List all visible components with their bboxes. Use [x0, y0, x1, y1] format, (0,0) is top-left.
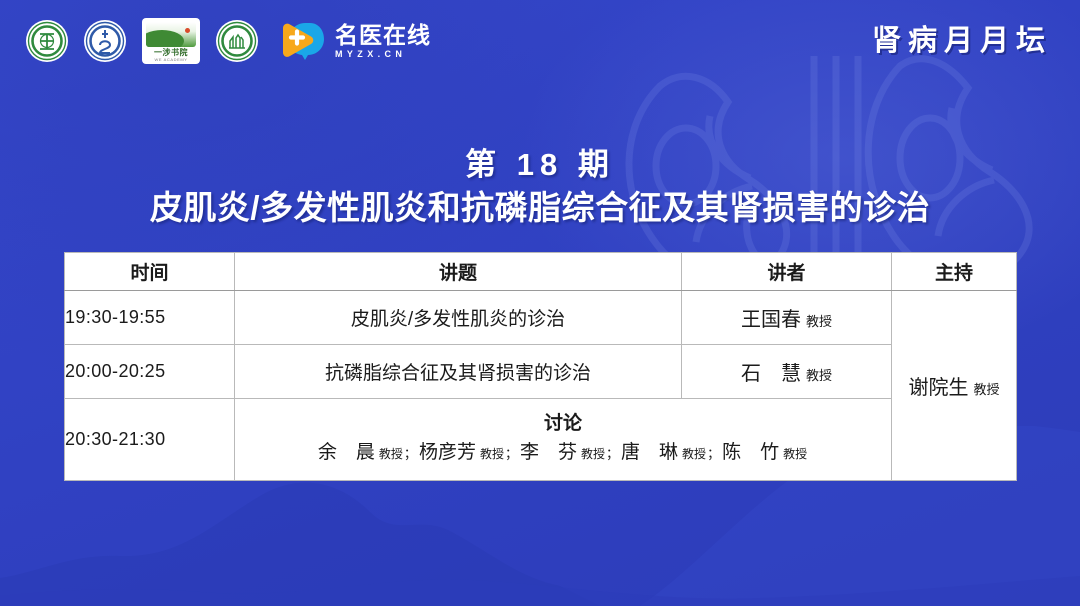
- row-topic: 皮肌炎/多发性肌炎的诊治: [235, 291, 682, 345]
- discussant-separator: ；: [505, 446, 518, 461]
- column-header-speaker: 讲者: [682, 253, 892, 291]
- discussant-rank: 教授: [682, 447, 706, 461]
- page-title: 皮肌炎/多发性肌炎和抗磷脂综合征及其肾损害的诊治: [0, 186, 1080, 230]
- university-seal-green-icon: [216, 20, 258, 62]
- myzx-name-en: MYZX.CN: [335, 48, 431, 60]
- table-row: 20:00-20:25 抗磷脂综合征及其肾损害的诊治 石 慧教授: [65, 345, 1017, 399]
- row-speaker: 石 慧教授: [682, 345, 892, 399]
- discussion-cell: 讨论 余 晨教授；杨彦芳教授；李 芬教授；唐 琳教授；陈 竹教授: [235, 399, 892, 481]
- discussant-separator: ；: [606, 446, 619, 461]
- hospital-seal-blue-icon: [84, 20, 126, 62]
- program-brand-title: 肾病月月坛: [872, 24, 1058, 58]
- table-header-row: 时间 讲题 讲者 主持: [65, 253, 1017, 291]
- discussant-name: 唐 琳: [621, 442, 678, 463]
- issue-number: 第 18 期: [0, 146, 1080, 184]
- discussant-separator: ；: [707, 446, 720, 461]
- title-block: 第 18 期 皮肌炎/多发性肌炎和抗磷脂综合征及其肾损害的诊治: [0, 146, 1080, 230]
- academy-name-cn: 一涉书院: [154, 48, 188, 57]
- slide-root: 一涉书院 WE ACADEMY: [0, 0, 1080, 606]
- column-header-time: 时间: [65, 253, 235, 291]
- discussant-list: 余 晨教授；杨彦芳教授；李 芬教授；唐 琳教授；陈 竹教授: [235, 439, 891, 468]
- row-topic: 抗磷脂综合征及其肾损害的诊治: [235, 345, 682, 399]
- discussant-rank: 教授: [581, 447, 605, 461]
- myzx-name-cn: 名医在线: [335, 23, 431, 48]
- speaker-name: 王国春: [741, 309, 801, 331]
- partner-logo-strip: 一涉书院 WE ACADEMY: [26, 18, 431, 64]
- discussant-name: 陈 竹: [722, 442, 779, 463]
- myzx-play-bubble-icon: [280, 19, 326, 63]
- yishan-academy-logo-icon: 一涉书院 WE ACADEMY: [142, 18, 200, 64]
- schedule-table-wrapper: 时间 讲题 讲者 主持 19:30-19:55 皮肌炎/多发性肌炎的诊治 王国春…: [64, 252, 1016, 481]
- discussant-separator: ；: [404, 446, 417, 461]
- row-time: 20:30-21:30: [65, 399, 235, 481]
- discussant-rank: 教授: [783, 447, 807, 461]
- table-row: 19:30-19:55 皮肌炎/多发性肌炎的诊治 王国春教授 谢院生教授: [65, 291, 1017, 345]
- myzx-brand-logo: 名医在线 MYZX.CN: [280, 19, 431, 63]
- row-time: 20:00-20:25: [65, 345, 235, 399]
- schedule-table: 时间 讲题 讲者 主持 19:30-19:55 皮肌炎/多发性肌炎的诊治 王国春…: [64, 252, 1017, 481]
- header-bar: 一涉书院 WE ACADEMY: [0, 0, 1080, 82]
- discussant-name: 李 芬: [520, 442, 577, 463]
- host-name: 谢院生: [908, 377, 968, 399]
- discussant-rank: 教授: [379, 447, 403, 461]
- hospital-seal-green-icon: [26, 20, 68, 62]
- academy-name-en: WE ACADEMY: [154, 57, 187, 62]
- speaker-rank: 教授: [806, 368, 832, 383]
- discussant-name: 余 晨: [318, 442, 375, 463]
- row-time: 19:30-19:55: [65, 291, 235, 345]
- row-host: 谢院生教授: [892, 291, 1017, 481]
- column-header-host: 主持: [892, 253, 1017, 291]
- discussant-name: 杨彦芳: [419, 442, 476, 463]
- table-row-discussion: 20:30-21:30 讨论 余 晨教授；杨彦芳教授；李 芬教授；唐 琳教授；陈…: [65, 399, 1017, 481]
- speaker-name: 石 慧: [741, 363, 801, 385]
- discussion-title: 讨论: [235, 411, 891, 437]
- speaker-rank: 教授: [806, 314, 832, 329]
- row-speaker: 王国春教授: [682, 291, 892, 345]
- column-header-topic: 讲题: [235, 253, 682, 291]
- discussant-rank: 教授: [480, 447, 504, 461]
- host-rank: 教授: [973, 382, 999, 397]
